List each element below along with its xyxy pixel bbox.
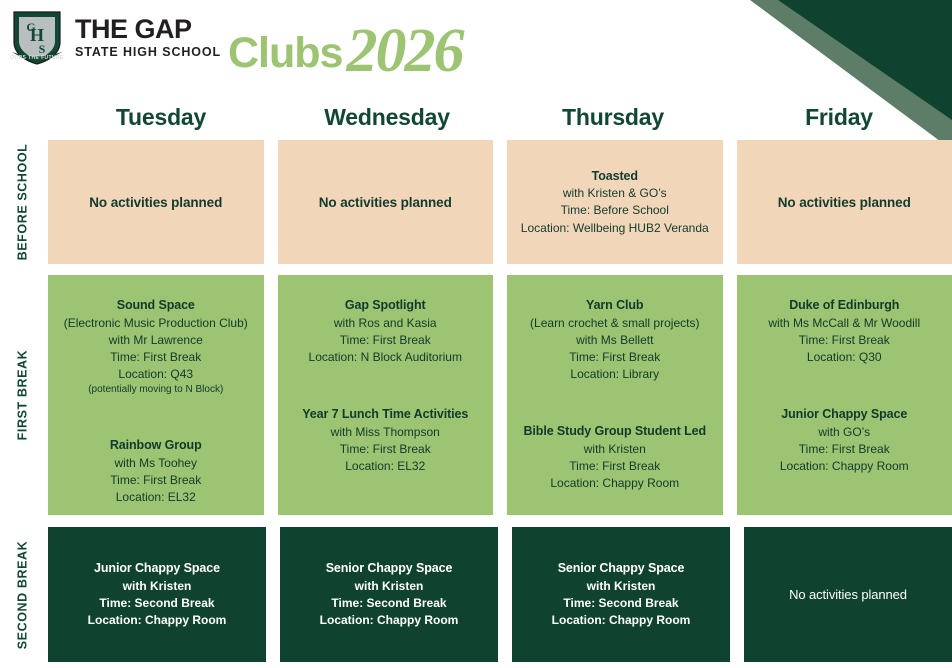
club-leader: with Miss Thompson [284, 424, 488, 441]
clubs-timetable-page: G H S OURS THE FUTURE THE GAP STATE HIGH… [0, 0, 952, 668]
club-leader: with Ms Toohey [54, 455, 258, 472]
club-leader: with Ms McCall & Mr Woodill [743, 315, 947, 332]
club-leader: with Mr Lawrence [54, 332, 258, 349]
club-location: Location: Library [513, 366, 717, 383]
club-entry: Yarn Club(Learn crochet & small projects… [513, 297, 717, 383]
club-entry: Senior Chappy Spacewith KristenTime: Sec… [286, 560, 492, 629]
club-entry: Sound Space(Electronic Music Production … [54, 297, 258, 397]
club-time: Time: First Break [284, 441, 488, 458]
row-label-second-break-text: SECOND BREAK [15, 540, 29, 649]
club-leader: with Ms Bellett [513, 332, 717, 349]
club-time: Time: First Break [513, 349, 717, 366]
svg-text:S: S [39, 42, 46, 56]
cell-second-break-tuesday[interactable]: Junior Chappy Spacewith KristenTime: Sec… [48, 527, 266, 662]
club-note: (potentially moving to N Block) [54, 383, 258, 397]
club-location: Location: Q30 [743, 349, 947, 366]
club-name: Gap Spotlight [284, 297, 488, 315]
day-header-thursday: Thursday [500, 104, 726, 138]
school-crest-icon: G H S OURS THE FUTURE [8, 8, 66, 66]
cell-before-school-tuesday[interactable]: No activities planned [48, 140, 264, 264]
cell-second-break-wednesday[interactable]: Senior Chappy Spacewith KristenTime: Sec… [280, 527, 498, 662]
club-location: Location: Chappy Room [54, 612, 260, 629]
club-location: Location: Wellbeing HUB2 Veranda [513, 220, 717, 237]
title-year: 2026 [346, 16, 462, 87]
club-entry: Senior Chappy Spacewith KristenTime: Sec… [518, 560, 724, 629]
day-header-friday: Friday [726, 104, 952, 138]
club-name: Senior Chappy Space [518, 560, 724, 578]
no-activities-label: No activities planned [778, 195, 911, 210]
club-description: (Learn crochet & small projects) [513, 315, 717, 332]
page-header: G H S OURS THE FUTURE THE GAP STATE HIGH… [0, 0, 952, 95]
club-entry: Junior Chappy Spacewith KristenTime: Sec… [54, 560, 260, 629]
club-leader: with Ros and Kasia [284, 315, 488, 332]
club-location: Location: Chappy Room [513, 475, 717, 492]
club-time: Time: First Break [743, 441, 947, 458]
svg-text:OURS THE FUTURE: OURS THE FUTURE [10, 55, 64, 61]
cell-before-school-wednesday[interactable]: No activities planned [278, 140, 494, 264]
cell-second-break-thursday[interactable]: Senior Chappy Spacewith KristenTime: Sec… [512, 527, 730, 662]
logo-main-text: THE GAP [75, 16, 221, 43]
club-location: Location: N Block Auditorium [284, 349, 488, 366]
club-entry: Toastedwith Kristen & GO’sTime: Before S… [513, 167, 717, 237]
row-label-first-break-text: FIRST BREAK [15, 350, 29, 441]
cell-second-break-friday[interactable]: No activities planned [744, 527, 952, 662]
club-time: Time: First Break [54, 349, 258, 366]
club-leader: with Kristen [518, 578, 724, 595]
no-activities-label: No activities planned [789, 587, 907, 602]
page-title: Clubs 2026 [228, 12, 462, 83]
club-leader: with Kristen & GO’s [513, 185, 717, 202]
club-time: Time: First Break [284, 332, 488, 349]
club-name: Toasted [513, 167, 717, 185]
day-header-wednesday: Wednesday [274, 104, 500, 138]
cell-before-school-thursday[interactable]: Toastedwith Kristen & GO’sTime: Before S… [507, 140, 723, 264]
club-time: Time: Second Break [518, 595, 724, 612]
club-entry: Duke of Edinburghwith Ms McCall & Mr Woo… [743, 297, 947, 366]
club-location: Location: Q43 [54, 366, 258, 383]
club-leader: with Kristen [286, 578, 492, 595]
club-entry: Junior Chappy Spacewith GO’sTime: First … [743, 406, 947, 475]
cell-first-break-wednesday[interactable]: Gap Spotlightwith Ros and KasiaTime: Fir… [278, 275, 494, 515]
row-first-break: Sound Space(Electronic Music Production … [48, 275, 952, 515]
club-time: Time: Before School [513, 202, 717, 219]
club-leader: with GO’s [743, 424, 947, 441]
cell-first-break-thursday[interactable]: Yarn Club(Learn crochet & small projects… [507, 275, 723, 515]
club-entry: Year 7 Lunch Time Activitieswith Miss Th… [284, 406, 488, 475]
club-name: Year 7 Lunch Time Activities [284, 406, 488, 424]
title-word: Clubs [228, 29, 342, 78]
club-name: Senior Chappy Space [286, 560, 492, 578]
club-name: Junior Chappy Space [54, 560, 260, 578]
row-second-break: Junior Chappy Spacewith KristenTime: Sec… [48, 527, 952, 662]
club-name: Yarn Club [513, 297, 717, 315]
club-entry: Rainbow Groupwith Ms TooheyTime: First B… [54, 437, 258, 506]
club-name: Sound Space [54, 297, 258, 315]
logo-sub-text: STATE HIGH SCHOOL [75, 46, 221, 59]
no-activities-label: No activities planned [319, 195, 452, 210]
club-location: Location: Chappy Room [286, 612, 492, 629]
club-location: Location: Chappy Room [743, 458, 947, 475]
club-leader: with Kristen [513, 441, 717, 458]
row-label-second-break: SECOND BREAK [0, 527, 44, 662]
school-logo: G H S OURS THE FUTURE THE GAP STATE HIGH… [8, 8, 221, 66]
no-activities-label: No activities planned [89, 195, 222, 210]
club-location: Location: EL32 [54, 489, 258, 506]
cell-first-break-friday[interactable]: Duke of Edinburghwith Ms McCall & Mr Woo… [737, 275, 952, 515]
club-name: Junior Chappy Space [743, 406, 947, 424]
club-leader: with Kristen [54, 578, 260, 595]
row-label-before-school-text: BEFORE SCHOOL [15, 144, 29, 261]
day-header-tuesday: Tuesday [48, 104, 274, 138]
cell-first-break-tuesday[interactable]: Sound Space(Electronic Music Production … [48, 275, 264, 515]
club-time: Time: Second Break [54, 595, 260, 612]
club-entry: Gap Spotlightwith Ros and KasiaTime: Fir… [284, 297, 488, 366]
row-before-school: No activities planned No activities plan… [48, 140, 952, 264]
club-description: (Electronic Music Production Club) [54, 315, 258, 332]
club-time: Time: First Break [513, 458, 717, 475]
club-name: Duke of Edinburgh [743, 297, 947, 315]
club-time: Time: Second Break [286, 595, 492, 612]
cell-before-school-friday[interactable]: No activities planned [737, 140, 952, 264]
club-location: Location: EL32 [284, 458, 488, 475]
club-name: Bible Study Group Student Led [513, 423, 717, 441]
club-location: Location: Chappy Room [518, 612, 724, 629]
club-name: Rainbow Group [54, 437, 258, 455]
club-entry: Bible Study Group Student Ledwith Kriste… [513, 423, 717, 492]
day-header-row: Tuesday Wednesday Thursday Friday [48, 104, 952, 138]
club-time: Time: First Break [743, 332, 947, 349]
row-label-before-school: BEFORE SCHOOL [0, 140, 44, 264]
club-time: Time: First Break [54, 472, 258, 489]
row-label-first-break: FIRST BREAK [0, 275, 44, 515]
